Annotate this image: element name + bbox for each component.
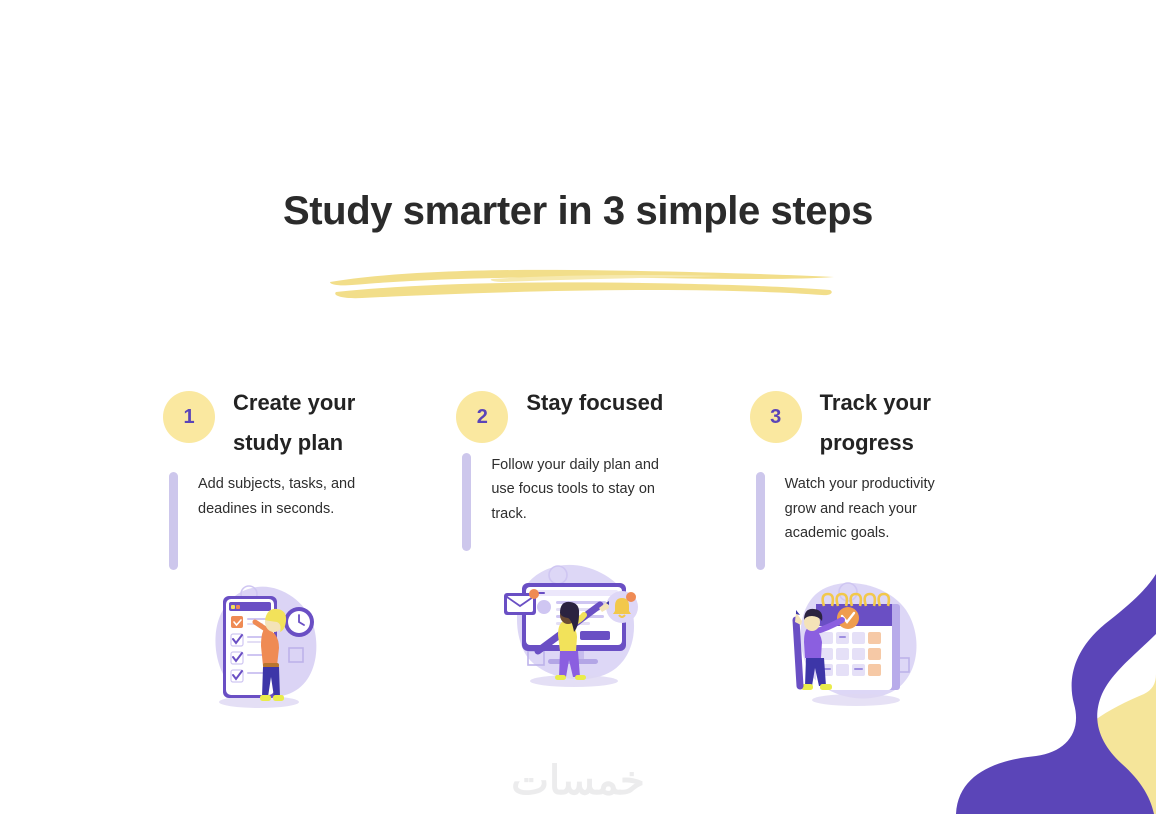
steps-row: 1 Create your study plan Add subjects, t…: [163, 383, 1043, 728]
step-3-title: Track your progress: [820, 383, 980, 462]
step-1-accent-bar: [169, 472, 178, 570]
step-2-title: Stay focused: [526, 383, 663, 423]
brush-underline-icon: [322, 264, 842, 304]
step-1-description: Add subjects, tasks, and deadines in sec…: [198, 472, 370, 570]
step-3-number-badge: 3: [750, 391, 802, 443]
step-2-body: Follow your daily plan and use focus too…: [456, 453, 749, 551]
step-1-header: 1 Create your study plan: [163, 383, 456, 462]
watermark: خمسات: [0, 758, 1156, 804]
step-2-header: 2 Stay focused: [456, 383, 749, 443]
calendar-progress-illustration: [782, 578, 932, 718]
phone-checklist-illustration: [195, 578, 335, 728]
step-item-2: 2 Stay focused Follow your daily plan an…: [456, 383, 749, 728]
step-2-description: Follow your daily plan and use focus too…: [491, 453, 663, 551]
step-2-accent-bar: [462, 453, 471, 551]
page-title: Study smarter in 3 simple steps: [0, 188, 1156, 234]
step-1-title: Create your study plan: [233, 383, 393, 462]
step-3-body: Watch your productivity grow and reach y…: [750, 472, 1043, 570]
step-3-illustration-wrap: [750, 578, 1043, 728]
step-item-1: 1 Create your study plan Add subjects, t…: [163, 383, 456, 728]
step-3-accent-bar: [756, 472, 765, 570]
step-item-3: 3 Track your progress Watch your product…: [750, 383, 1043, 728]
monitor-focus-illustration: [500, 559, 650, 699]
step-1-number-badge: 1: [163, 391, 215, 443]
step-1-body: Add subjects, tasks, and deadines in sec…: [163, 472, 456, 570]
step-2-number-badge: 2: [456, 391, 508, 443]
step-3-description: Watch your productivity grow and reach y…: [785, 472, 957, 570]
step-2-illustration-wrap: [456, 559, 749, 709]
heading-block: Study smarter in 3 simple steps: [0, 188, 1156, 234]
step-3-header: 3 Track your progress: [750, 383, 1043, 462]
step-1-illustration-wrap: [163, 578, 456, 728]
landing-section: Study smarter in 3 simple steps 1 Create…: [0, 0, 1156, 814]
